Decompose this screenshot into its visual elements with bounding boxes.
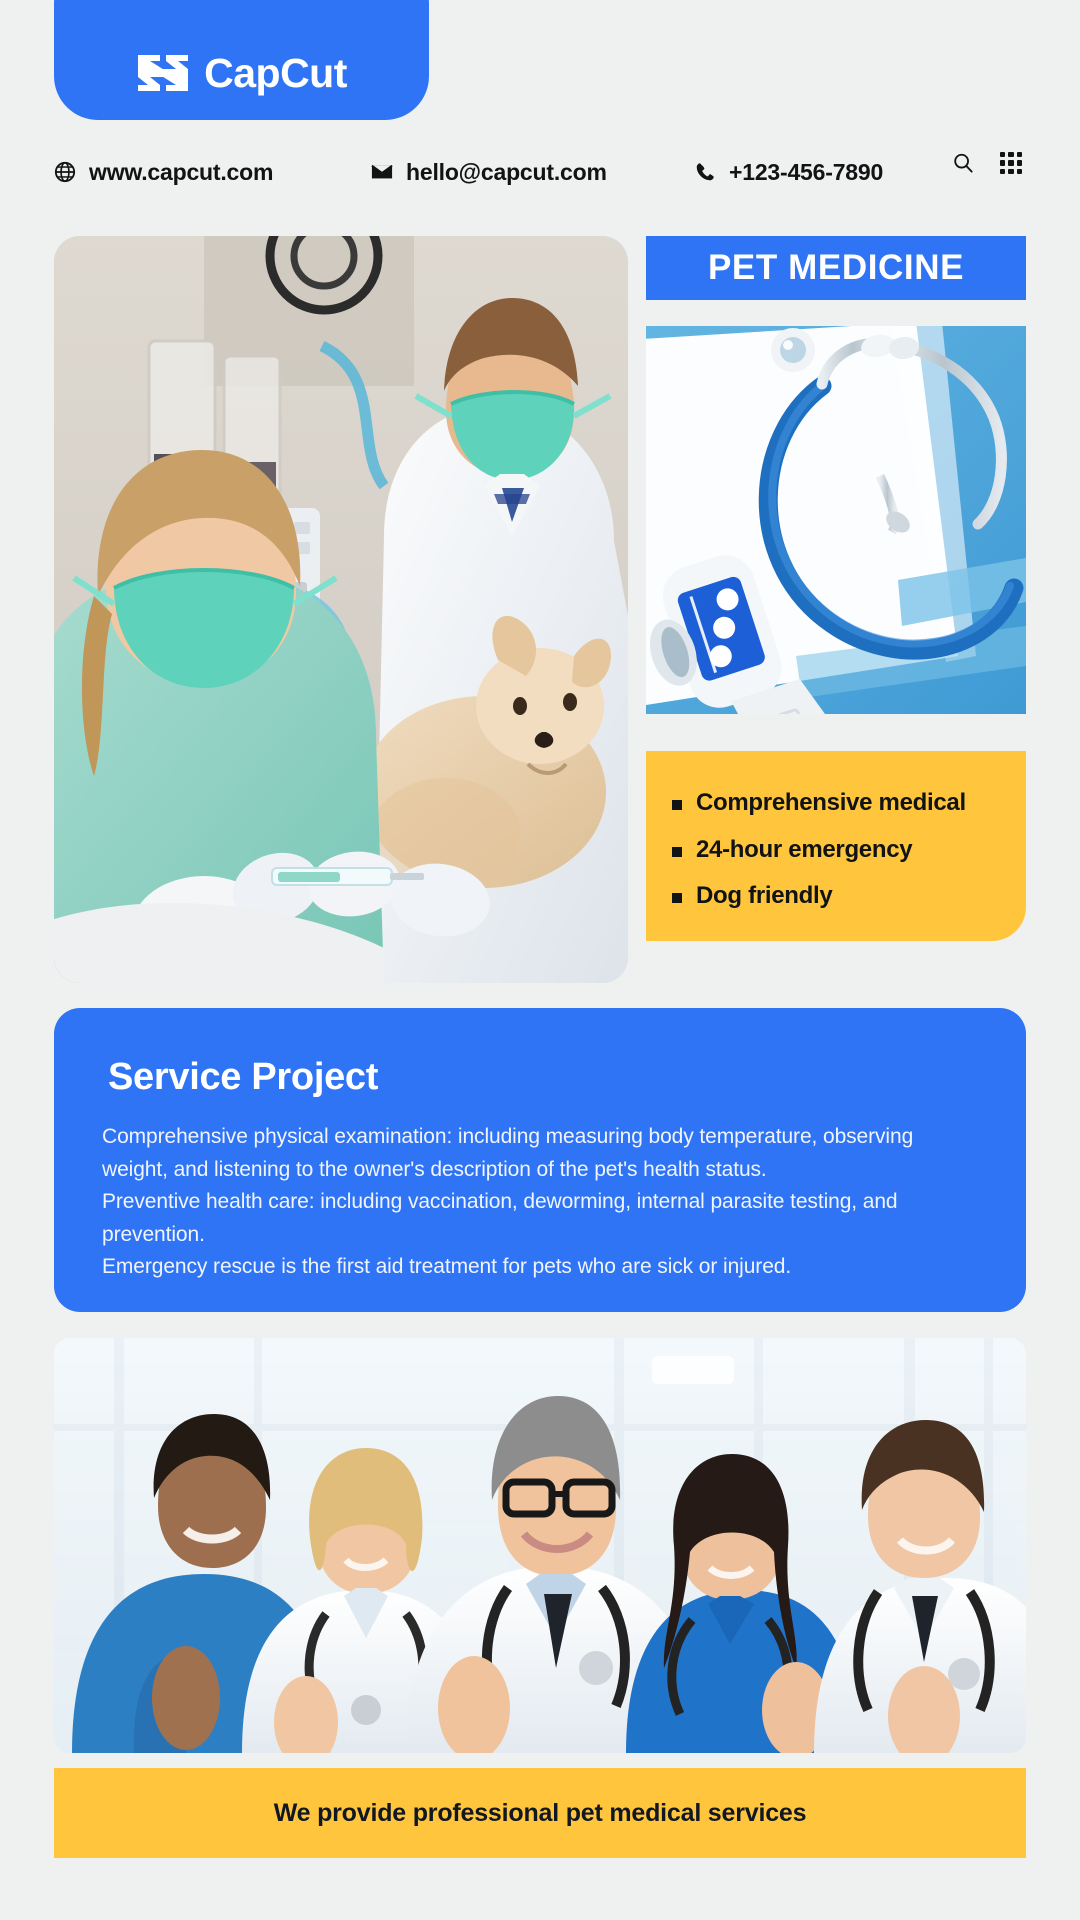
feature-item: Dog friendly (672, 882, 1000, 910)
team-thumbs-up-illustration (54, 1338, 1026, 1753)
bullet-square-icon (672, 800, 682, 810)
envelope-icon (371, 161, 393, 183)
contact-phone-text: +123-456-7890 (729, 159, 883, 186)
footer-tagline-banner: We provide professional pet medical serv… (54, 1768, 1026, 1858)
feature-item: Comprehensive medical (672, 789, 1000, 817)
service-paragraph: Comprehensive physical examination: incl… (102, 1121, 978, 1186)
feature-item: 24-hour emergency (672, 836, 1000, 864)
pet-medicine-title: PET MEDICINE (708, 248, 964, 288)
contact-website[interactable]: www.capcut.com (54, 150, 273, 194)
brand-logo-block[interactable]: CapCut (54, 0, 429, 120)
search-icon[interactable] (952, 152, 974, 174)
vet-treating-dog-illustration (54, 236, 628, 983)
bullet-square-icon (672, 893, 682, 903)
feature-label: Dog friendly (696, 882, 832, 910)
medical-tools-photo (646, 326, 1026, 714)
service-paragraph: Preventive health care: including vaccin… (102, 1186, 978, 1251)
service-project-section: Service Project Comprehensive physical e… (54, 1008, 1026, 1312)
phone-icon (694, 161, 716, 183)
hero-main-photo (54, 236, 628, 983)
footer-tagline: We provide professional pet medical serv… (274, 1799, 807, 1828)
contact-phone[interactable]: +123-456-7890 (694, 150, 883, 194)
globe-icon (54, 161, 76, 183)
stethoscope-thermometer-illustration (646, 326, 1026, 714)
contact-website-text: www.capcut.com (89, 159, 273, 186)
grid-apps-icon[interactable] (1000, 152, 1022, 174)
medical-team-photo (54, 1338, 1026, 1753)
feature-label: 24-hour emergency (696, 836, 912, 864)
contact-email[interactable]: hello@capcut.com (371, 150, 607, 194)
features-box: Comprehensive medical 24-hour emergency … (646, 751, 1026, 941)
contact-email-text: hello@capcut.com (406, 159, 607, 186)
capcut-hourglass-icon (136, 52, 190, 94)
brand-name: CapCut (204, 53, 347, 94)
service-project-title: Service Project (102, 1056, 978, 1099)
contact-bar: www.capcut.com hello@capcut.com +123-456… (0, 150, 1080, 210)
service-paragraph: Emergency rescue is the first aid treatm… (102, 1251, 978, 1284)
poster-root: CapCut www.capcut.com hello@capcut.com (0, 0, 1080, 1920)
brand-logo: CapCut (136, 52, 347, 94)
hero-right-column: PET MEDICINE (646, 236, 1026, 300)
feature-label: Comprehensive medical (696, 789, 966, 817)
bar-tools (952, 152, 1022, 174)
bullet-square-icon (672, 847, 682, 857)
pet-medicine-banner: PET MEDICINE (646, 236, 1026, 300)
